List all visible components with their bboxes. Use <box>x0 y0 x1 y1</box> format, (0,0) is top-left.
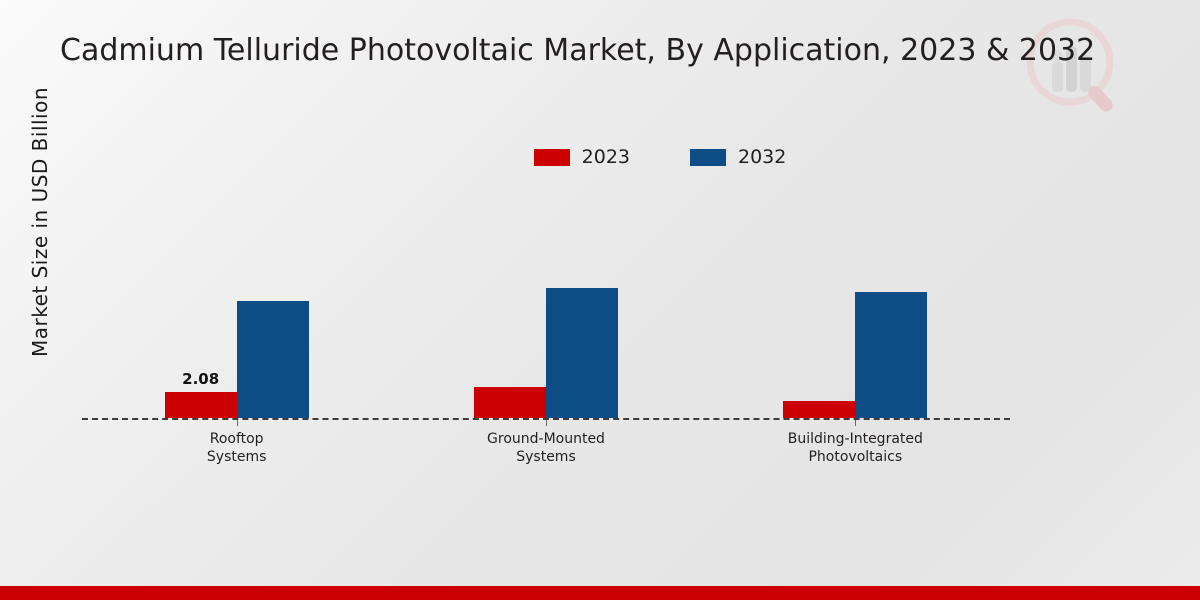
legend-item-2032[interactable]: 2032 <box>690 146 786 168</box>
bar-pair <box>474 190 618 418</box>
x-axis-label-line2: Systems <box>207 448 267 466</box>
bar-groups: 2.08 Rooftop Systems Ground-Mounted Syst… <box>82 190 1010 418</box>
bar-group-ground-mounted-systems: Ground-Mounted Systems <box>391 190 700 418</box>
bottom-accent-band <box>0 586 1200 600</box>
legend-swatch-2023 <box>534 149 570 166</box>
chart-page: Cadmium Telluride Photovoltaic Market, B… <box>0 0 1200 600</box>
x-axis-label-line1: Building-Integrated <box>788 430 923 448</box>
bar-2023-ground-mounted-systems[interactable] <box>474 387 546 418</box>
chart-title: Cadmium Telluride Photovoltaic Market, B… <box>60 33 1120 68</box>
x-axis-label-line1: Rooftop <box>207 430 267 448</box>
chart-legend: 2023 2032 <box>0 146 1200 168</box>
magnifier-bar-chart-logo-icon <box>1026 16 1122 120</box>
x-axis-label-line1: Ground-Mounted <box>487 430 605 448</box>
x-axis-label-line2: Systems <box>487 448 605 466</box>
plot-area: 2.08 Rooftop Systems Ground-Mounted Syst… <box>82 190 1010 418</box>
bar-2032-rooftop-systems[interactable] <box>237 301 309 418</box>
x-axis-label-rooftop-systems: Rooftop Systems <box>207 430 267 466</box>
bar-value-2023-rooftop-systems: 2.08 <box>182 370 219 388</box>
bar-2032-ground-mounted-systems[interactable] <box>546 288 618 418</box>
bar-group-rooftop-systems: 2.08 Rooftop Systems <box>82 190 391 418</box>
bar-2032-building-integrated-photovoltaics[interactable] <box>855 292 927 418</box>
legend-label-2023: 2023 <box>582 146 630 168</box>
legend-label-2032: 2032 <box>738 146 786 168</box>
bar-pair <box>783 190 927 418</box>
x-axis-baseline <box>82 418 1010 420</box>
x-axis-label-building-integrated-photovoltaics: Building-Integrated Photovoltaics <box>788 430 923 466</box>
legend-swatch-2032 <box>690 149 726 166</box>
y-axis-title: Market Size in USD Billion <box>28 32 52 412</box>
bar-group-building-integrated-photovoltaics: Building-Integrated Photovoltaics <box>701 190 1010 418</box>
bar-2023-building-integrated-photovoltaics[interactable] <box>783 401 855 418</box>
bar-2023-rooftop-systems[interactable] <box>165 392 237 418</box>
x-axis-label-line2: Photovoltaics <box>788 448 923 466</box>
x-axis-label-ground-mounted-systems: Ground-Mounted Systems <box>487 430 605 466</box>
legend-item-2023[interactable]: 2023 <box>534 146 630 168</box>
